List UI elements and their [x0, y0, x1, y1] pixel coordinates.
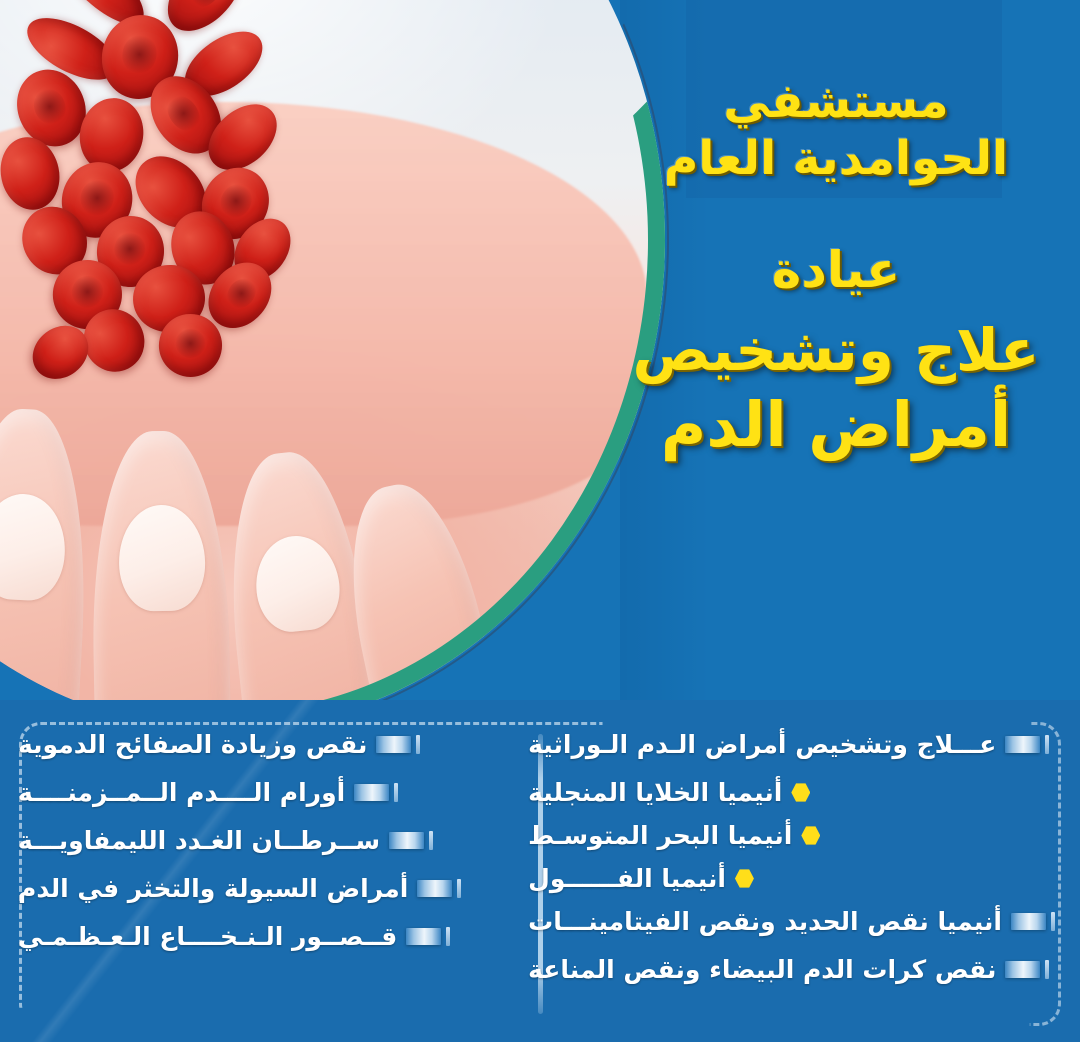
hospital-name-line-2: الحوامدية العام [626, 131, 1046, 186]
block-bullet-icon [376, 736, 411, 753]
list-item: نقص كرات الدم البيضاء ونقص المناعة [528, 955, 1040, 984]
list-item: عـــلاج وتشخيص أمراض الـدم الـوراثية [528, 730, 1040, 759]
list-item-label: أورام الــــدم الــمــزمنــــة [18, 778, 345, 807]
hex-dot-icon [791, 783, 810, 802]
services-columns: عـــلاج وتشخيص أمراض الـدم الـوراثية أني… [0, 700, 1080, 1042]
list-item: أورام الــــدم الــمــزمنــــة [18, 778, 389, 807]
list-item: أمراض السيولة والتخثر في الدم [18, 874, 452, 903]
list-item-label: أنيميا الخلايا المنجلية [528, 778, 782, 807]
block-bullet-icon [1005, 736, 1040, 753]
list-item-label: قــصــور الـنـخــــاع الـعـظـمـي [18, 922, 397, 951]
list-item-label: أنيميا البحر المتوسـط [528, 821, 792, 850]
block-bullet-icon [1005, 961, 1040, 978]
services-column-left: نقص وزيادة الصفائح الدموية أورام الــــد… [0, 700, 498, 1042]
service-label: علاج وتشخيص [626, 316, 1046, 384]
list-item-label: أنيميا نقص الحديد ونقص الفيتامينـــات [528, 907, 1002, 936]
list-item: أنيميا الفــــــول [528, 864, 754, 893]
poster-root: مستشفي الحوامدية العام عيادة علاج وتشخيص… [0, 0, 1080, 1042]
block-bullet-icon [354, 784, 389, 801]
list-item: أنيميا البحر المتوسـط [528, 821, 820, 850]
list-item: أنيميا نقص الحديد ونقص الفيتامينـــات [528, 907, 1046, 936]
hex-dot-icon [735, 869, 754, 888]
clinic-label: عيادة [626, 241, 1046, 300]
services-list-section: عـــلاج وتشخيص أمراض الـدم الـوراثية أني… [0, 700, 1080, 1042]
block-bullet-icon [417, 880, 452, 897]
hospital-name-line-1: مستشفي [626, 74, 1046, 129]
list-item: نقص وزيادة الصفائح الدموية [18, 730, 411, 759]
list-item-label: نقص وزيادة الصفائح الدموية [18, 730, 367, 759]
services-column-right: عـــلاج وتشخيص أمراض الـدم الـوراثية أني… [498, 700, 1080, 1042]
hex-dot-icon [801, 826, 820, 845]
list-item-label: ســرطــان الغـدد الليمفاويـــة [18, 826, 380, 855]
topic-label: أمراض الدم [626, 388, 1046, 461]
list-item-label: نقص كرات الدم البيضاء ونقص المناعة [528, 955, 996, 984]
list-item-label: أنيميا الفــــــول [528, 864, 726, 893]
block-bullet-icon [1011, 913, 1046, 930]
list-item: قــصــور الـنـخــــاع الـعـظـمـي [18, 922, 441, 951]
block-bullet-icon [389, 832, 424, 849]
poster-headline: مستشفي الحوامدية العام عيادة علاج وتشخيص… [626, 74, 1046, 462]
list-item-label: عـــلاج وتشخيص أمراض الـدم الـوراثية [528, 730, 996, 759]
block-bullet-icon [406, 928, 441, 945]
list-item: أنيميا الخلايا المنجلية [528, 778, 810, 807]
list-item-label: أمراض السيولة والتخثر في الدم [18, 874, 408, 903]
list-item: ســرطــان الغـدد الليمفاويـــة [18, 826, 424, 855]
poster-hero-section: مستشفي الحوامدية العام عيادة علاج وتشخيص… [0, 0, 1080, 712]
